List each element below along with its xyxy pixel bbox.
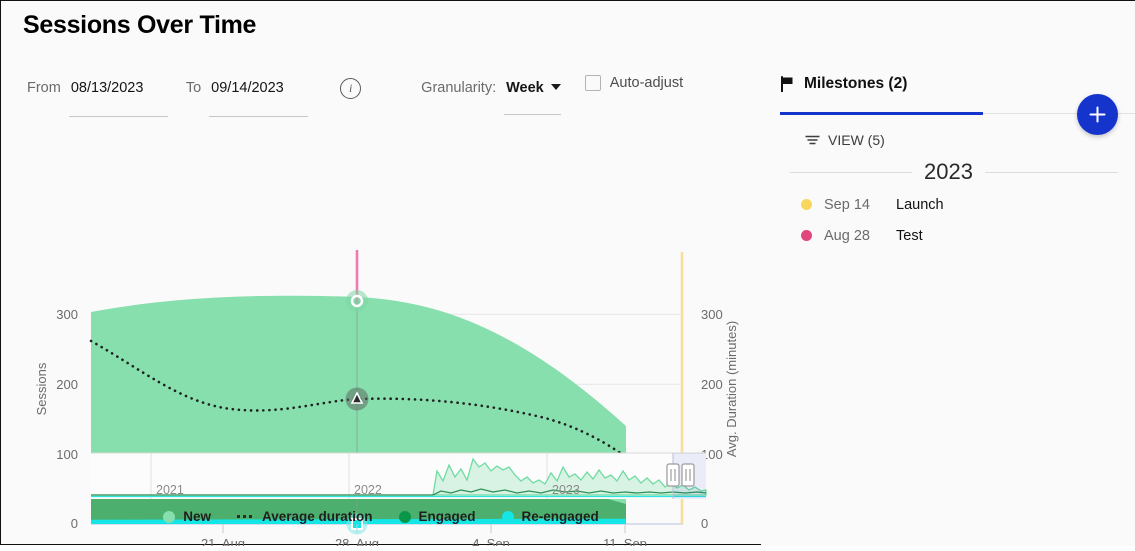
chevron-down-icon[interactable] — [551, 84, 561, 90]
legend-label: New — [183, 509, 211, 524]
auto-adjust-label: Auto-adjust — [610, 75, 683, 91]
year-rule-left — [790, 172, 912, 173]
legend-dot-icon — [399, 511, 411, 523]
y-axis-right-title: Avg. Duration (minutes) — [724, 321, 739, 457]
navigator-handle-left[interactable] — [667, 464, 679, 486]
granularity-underline — [504, 114, 561, 115]
to-date-underline — [209, 116, 308, 117]
chart-legend: New Average duration Engaged Re-engaged — [1, 509, 761, 524]
milestone-row[interactable]: Aug 28 Test — [801, 220, 1126, 251]
milestone-color-dot — [801, 230, 812, 241]
milestones-list: Sep 14 Launch Aug 28 Test — [801, 189, 1126, 251]
from-date-field[interactable]: 08/13/2023 — [69, 75, 168, 103]
milestones-year-label: 2023 — [924, 159, 973, 185]
chart-controls: From 08/13/2023 To 09/14/2023 i Granular… — [27, 75, 683, 103]
milestone-color-dot — [801, 199, 812, 210]
sessions-chart[interactable]: 300 200 100 0 Sessions 300 200 100 0 Avg… — [1, 121, 761, 546]
milestone-name: Launch — [896, 197, 944, 213]
info-icon[interactable]: i — [340, 78, 361, 99]
filter-icon — [805, 134, 820, 146]
granularity-select[interactable]: Week — [504, 75, 561, 101]
y-axis-left-title: Sessions — [34, 362, 49, 415]
legend-item-average-duration[interactable]: Average duration — [237, 509, 373, 524]
legend-label: Engaged — [419, 509, 476, 524]
checkbox-box-icon[interactable] — [585, 75, 601, 91]
to-label: To — [186, 75, 201, 101]
legend-dot-icon — [163, 511, 175, 523]
legend-item-engaged[interactable]: Engaged — [399, 509, 476, 524]
auto-adjust-checkbox[interactable]: Auto-adjust — [585, 75, 683, 91]
view-filter-label: VIEW (5) — [828, 132, 885, 148]
page-title: Sessions Over Time — [23, 11, 256, 40]
to-date-value[interactable]: 09/14/2023 — [209, 75, 308, 103]
legend-dot-icon — [502, 511, 514, 523]
svg-text:2022: 2022 — [354, 483, 382, 497]
range-navigator[interactable]: 2021 2022 2023 — [1, 447, 761, 507]
highlight-marker-average-duration[interactable] — [346, 388, 369, 411]
svg-text:300: 300 — [56, 307, 78, 322]
milestone-name: Test — [896, 228, 923, 244]
svg-text:300: 300 — [701, 307, 723, 322]
svg-text:200: 200 — [56, 377, 78, 392]
plus-icon — [1089, 106, 1106, 123]
legend-dash-icon — [237, 515, 254, 518]
highlight-marker-new[interactable] — [346, 290, 368, 312]
milestone-row[interactable]: Sep 14 Launch — [801, 189, 1126, 220]
year-rule-right — [985, 172, 1118, 173]
legend-item-new[interactable]: New — [163, 509, 211, 524]
tab-milestones[interactable]: Milestones (2) — [780, 75, 907, 106]
from-date-value[interactable]: 08/13/2023 — [69, 75, 168, 103]
app-root: Sessions Over Time From 08/13/2023 To 09… — [0, 0, 1135, 545]
tab-active-indicator — [780, 112, 983, 115]
from-label: From — [27, 75, 61, 101]
milestones-year-divider: 2023 — [790, 159, 1118, 185]
milestone-date: Sep 14 — [824, 197, 896, 213]
flag-icon — [780, 76, 795, 92]
svg-text:200: 200 — [701, 377, 723, 392]
legend-item-re-engaged[interactable]: Re-engaged — [502, 509, 599, 524]
legend-label: Average duration — [262, 509, 373, 524]
add-milestone-button[interactable] — [1077, 94, 1118, 135]
navigator-handle-right[interactable] — [682, 464, 694, 486]
legend-label: Re-engaged — [522, 509, 599, 524]
tab-milestones-label: Milestones (2) — [804, 75, 907, 93]
to-date-field[interactable]: 09/14/2023 — [209, 75, 308, 103]
from-date-underline — [69, 116, 168, 117]
granularity-value[interactable]: Week — [504, 80, 546, 96]
x-axis-ticks — [223, 524, 625, 533]
granularity-label: Granularity: — [421, 75, 496, 101]
milestone-date: Aug 28 — [824, 228, 896, 244]
view-filter-button[interactable]: VIEW (5) — [805, 132, 885, 148]
svg-text:2021: 2021 — [156, 483, 184, 497]
milestones-panel: Milestones (2) VIEW (5) 2023 — [761, 1, 1135, 546]
svg-text:2023: 2023 — [552, 483, 580, 497]
